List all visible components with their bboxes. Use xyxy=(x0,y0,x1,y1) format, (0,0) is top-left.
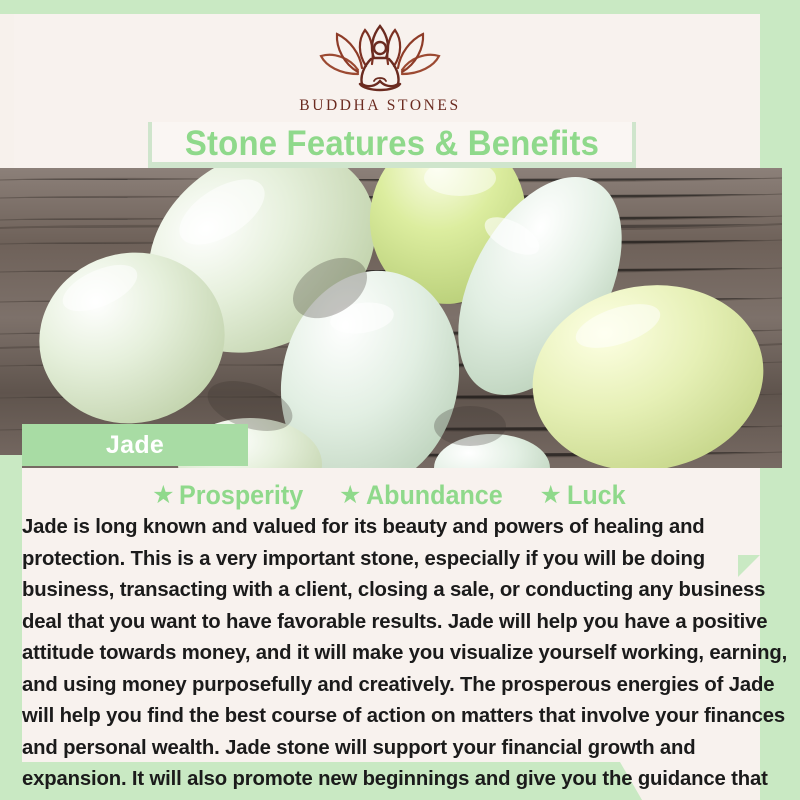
benefits-row: ★ Prosperity ★ Abundance ★ Luck xyxy=(22,478,760,512)
decorative-top-band xyxy=(0,0,800,14)
benefit-label: Prosperity xyxy=(179,480,303,511)
decorative-left-band xyxy=(0,455,22,800)
lotus-meditation-icon xyxy=(318,24,442,94)
stone-description: Jade is long known and valued for its be… xyxy=(22,512,788,800)
star-icon: ★ xyxy=(339,483,361,508)
stone-name-label: Jade xyxy=(106,431,164,460)
benefit-item-prosperity: ★ Prosperity xyxy=(152,480,313,511)
star-icon: ★ xyxy=(539,483,561,508)
page-title: Stone Features & Benefits xyxy=(24,124,761,164)
benefit-item-luck: ★ Luck xyxy=(539,480,629,511)
star-icon: ★ xyxy=(152,483,174,508)
brand-wordmark: BUDDHA STONES xyxy=(299,97,460,115)
brand-logo-block: BUDDHA STONES xyxy=(0,14,760,124)
benefit-label: Luck xyxy=(567,480,626,511)
stone-name-banner: Jade xyxy=(22,424,248,466)
benefit-label: Abundance xyxy=(366,480,503,511)
benefit-item-abundance: ★ Abundance xyxy=(339,480,513,511)
stone-info-poster: BUDDHA STONES Stone Features & Benefits xyxy=(0,0,800,800)
jade-tumbled-stones-photo xyxy=(0,168,782,468)
